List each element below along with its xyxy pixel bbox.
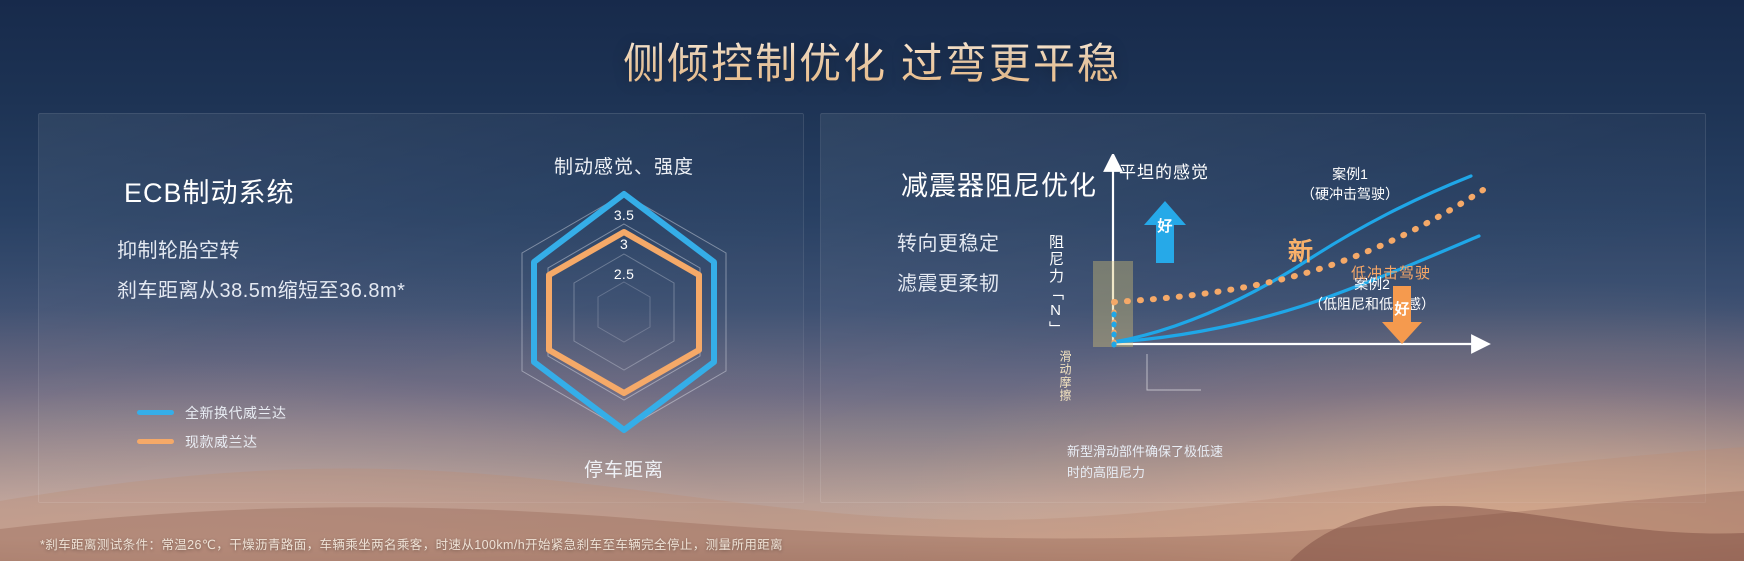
left-panel-line-1: 抑制轮胎空转 — [117, 234, 240, 263]
legend-swatch-blue — [137, 410, 174, 415]
radar-series-current — [549, 232, 699, 393]
legend-item-current: 现款威兰达 — [137, 431, 287, 452]
right-panel-line-2: 滤震更柔韧 — [897, 267, 1000, 296]
y-axis-label: 阻尼力「N」 — [1045, 234, 1066, 338]
sliding-friction-label: 滑动摩擦 — [1057, 350, 1074, 402]
radar-tick-3: 3 — [601, 236, 647, 252]
low-impact-label: 低冲击驾驶 — [1351, 262, 1431, 283]
new-curve-label: 新 — [1288, 232, 1313, 268]
right-panel-line-1: 转向更稳定 — [897, 227, 1000, 256]
radar-axis-top-label: 制动感觉、强度 — [459, 152, 789, 179]
radar-tick-2-5: 2.5 — [601, 266, 647, 282]
radar-chart: 制动感觉、强度 3.5 3 2.5 停车距离 — [459, 144, 789, 484]
radar-axis-bottom-label: 停车距离 — [459, 455, 789, 482]
caption-leader-line — [1147, 354, 1201, 390]
case1-label: 案例1 （硬冲击驾驶） — [1301, 164, 1399, 205]
panel-ecb-brake-system: ECB制动系统 抑制轮胎空转 刹车距离从38.5m缩短至36.8m* 制动感觉、… — [38, 113, 804, 503]
legend-swatch-orange — [137, 439, 174, 444]
chart-caption: 新型滑动部件确保了极低速 时的高阻尼力 — [1067, 442, 1223, 484]
legend-label-new: 全新换代威兰达 — [185, 403, 287, 423]
good-up-arrow: 好 — [1144, 201, 1186, 263]
page-title: 侧倾控制优化 过弯更平稳 — [0, 30, 1744, 91]
left-panel-heading: ECB制动系统 — [124, 171, 295, 210]
legend-item-new: 全新换代威兰达 — [137, 402, 287, 423]
left-panel-line-2: 刹车距离从38.5m缩短至36.8m* — [117, 274, 405, 303]
panel-damper-optimization: 减震器阻尼优化 转向更稳定 滤震更柔韧 — [820, 113, 1706, 503]
good-down-text: 好 — [1382, 298, 1422, 319]
radar-tick-3-5: 3.5 — [601, 207, 647, 223]
good-up-text: 好 — [1144, 215, 1186, 236]
flat-feeling-label: 平坦的感觉 — [1119, 158, 1209, 183]
radar-legend: 全新换代威兰达 现款威兰达 — [137, 402, 287, 460]
radar-chart-svg — [459, 190, 789, 440]
legend-label-current: 现款威兰达 — [185, 432, 258, 452]
footnote: *刹车距离测试条件：常温26℃，干燥沥青路面，车辆乘坐两名乘客，时速从100km… — [40, 534, 783, 553]
damping-force-chart: 阻尼力「N」 平坦的感觉 好 案例1 （硬冲击驾驶） 新 案例2 （低阻尼和低平… — [1051, 154, 1691, 504]
good-down-arrow: 好 — [1382, 286, 1422, 344]
